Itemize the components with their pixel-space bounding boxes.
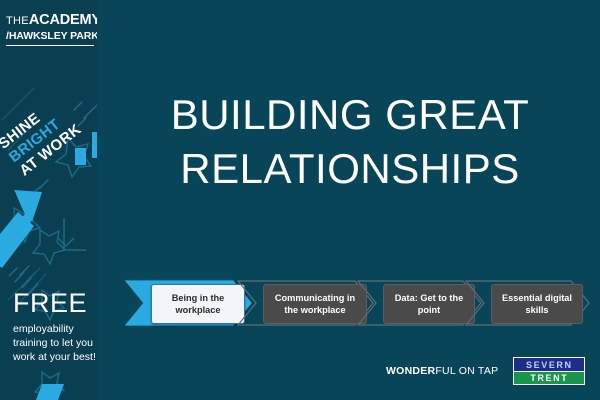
step-4[interactable]: Essential digital skills [465,276,593,332]
step-4-label-box[interactable]: Essential digital skills [491,284,583,324]
academy-logo-line2: /HAWKSLEY PARK [6,31,94,42]
academy-logo-the: THE [6,15,29,27]
step-3-label: Data: Get to the point [389,292,469,316]
left-sidebar: THEACADEMY /HAWKSLEY PARK SHINE BRIGHT A… [0,0,97,400]
step-2[interactable]: Communicating in the workplace [237,276,377,332]
cyan-accent-edge [92,132,97,158]
slide-canvas: THEACADEMY /HAWKSLEY PARK SHINE BRIGHT A… [0,0,600,400]
academy-logo: THEACADEMY /HAWKSLEY PARK [6,13,94,46]
severn-trent-logo-line2: TRENT [514,371,584,384]
severn-trent-logo: SEVERN TRENT [513,357,585,385]
page-title-line1: BUILDING GREAT [110,88,590,142]
free-subtext: employability training to let you work a… [13,323,97,365]
step-2-label-box[interactable]: Communicating in the workplace [263,284,367,324]
academy-logo-line1: THEACADEMY [6,13,94,28]
step-4-label: Essential digital skills [497,292,577,316]
course-steps: Being in the workplace Communicating in … [125,276,590,332]
star-outline-low [33,230,65,264]
step-1-label: Being in the workplace [157,292,239,316]
step-1-label-box[interactable]: Being in the workplace [151,284,245,324]
page-title-line2: RELATIONSHIPS [110,142,590,196]
step-1[interactable]: Being in the workplace [125,276,255,332]
academy-logo-rule [6,45,94,46]
slogan-rest: FUL ON TAP [435,365,498,377]
academy-logo-academy: ACADEMY [29,12,97,28]
slogan-bold: WONDER [386,365,435,377]
step-2-label: Communicating in the workplace [269,292,361,316]
free-headline: FREE [13,290,97,317]
step-3-label-box[interactable]: Data: Get to the point [383,284,475,324]
page-title: BUILDING GREAT RELATIONSHIPS [110,88,590,196]
slogan: WONDERFUL ON TAP [386,365,498,377]
free-offer-block: FREE employability training to let you w… [13,290,97,365]
severn-trent-logo-line1: SEVERN [514,358,584,371]
cyan-accent-square [75,148,86,165]
footer: WONDERFUL ON TAP SEVERN TRENT [386,357,585,385]
